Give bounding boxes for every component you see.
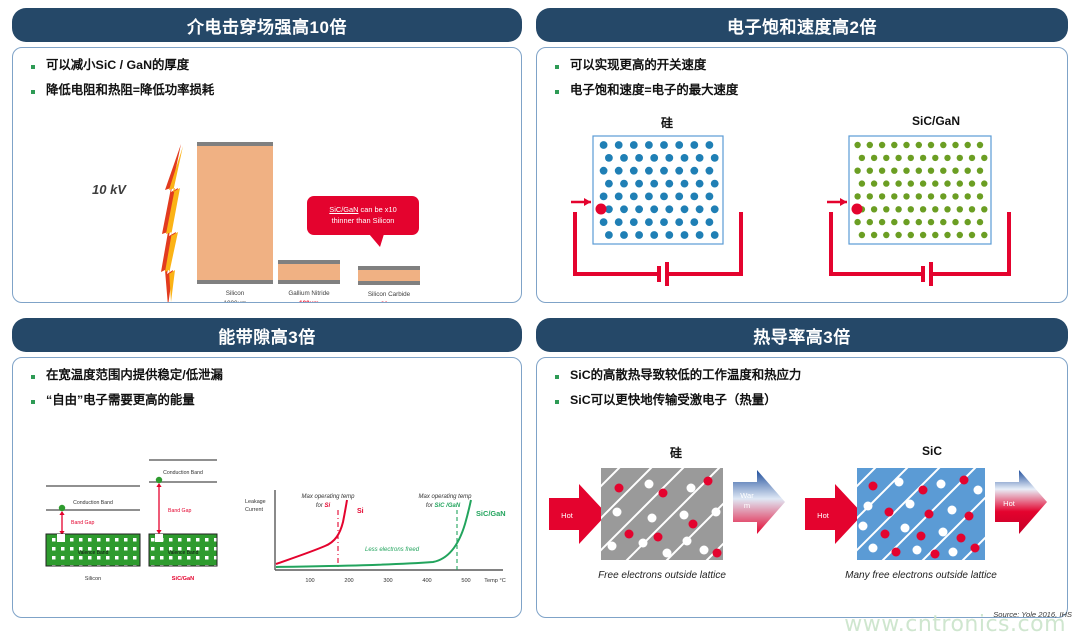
- panel-band-gap: 能带隙高3倍 在宽温度范围内提供稳定/低泄漏 “自由”电子需要更高的能量: [12, 318, 522, 618]
- list-item: “自由”电子需要更高的能量: [27, 393, 521, 407]
- lattice-dot: [854, 219, 860, 225]
- chart-xtick: 200: [344, 578, 353, 584]
- lattice-dot: [660, 167, 668, 175]
- thermal-diagram-sic: Hot: [801, 462, 1068, 592]
- lattice-dot: [965, 168, 971, 174]
- lattice-dot: [944, 232, 950, 238]
- panel-body-thermal-conductivity: SiC的高散热导致较低的工作温度和热应力 SiC可以更快地传输受激电子（热量） …: [536, 357, 1068, 618]
- lattice-dot: [600, 167, 608, 175]
- slab-dimension: 90µm: [358, 300, 420, 303]
- lattice-dot: [620, 231, 628, 239]
- lattice-dot: [696, 180, 704, 188]
- lattice-dot: [891, 142, 897, 148]
- lattice-dot: [969, 206, 975, 212]
- chart-xtick: 400: [422, 578, 431, 584]
- slab-body: [278, 264, 340, 280]
- bullet-square-icon: [31, 90, 35, 94]
- lattice-dot: [952, 168, 958, 174]
- panel-title-band-gap: 能带隙高3倍: [12, 318, 522, 352]
- bullet-square-icon: [31, 375, 35, 379]
- lattice-dot: [867, 193, 873, 199]
- bandgap-and-leakage-figure: Conduction Band Band Gap Valence Band Si…: [13, 454, 521, 609]
- lattice-dot: [932, 180, 938, 186]
- bullet-square-icon: [555, 90, 559, 94]
- lattice-dot: [895, 206, 901, 212]
- callout-underline: SiC/GaN: [329, 205, 358, 214]
- silicon-lattice-box: [593, 136, 723, 244]
- lattice-dot: [871, 180, 877, 186]
- lattice-dot: [957, 180, 963, 186]
- lattice-dot: [706, 193, 714, 201]
- lattice-dot: [977, 219, 983, 225]
- lattice-dot: [903, 219, 909, 225]
- slab-silicon: Silicon 1000µm: [197, 142, 273, 303]
- lattice-dot: [620, 180, 628, 188]
- lattice-dot: [928, 193, 934, 199]
- lightning-bolt-icon: [159, 144, 195, 303]
- lattice-dot: [645, 218, 653, 226]
- sicgan-device-circuit: [807, 134, 1067, 294]
- warm-arrow-label-2: m: [744, 501, 750, 510]
- slab-body: [358, 270, 420, 281]
- series-sicgan-curve: [276, 500, 471, 567]
- slab-bottom-plate: [197, 280, 273, 284]
- lattice-dot: [916, 193, 922, 199]
- lattice-dot: [630, 141, 638, 149]
- carrier-electron-icon: [852, 204, 863, 215]
- annotation-sicgan-line1: Max operating temp: [418, 494, 472, 500]
- lattice-dot: [650, 180, 658, 188]
- panel-title-thermal-conductivity: 热导率高3倍: [536, 318, 1068, 352]
- lattice-dot: [620, 154, 628, 162]
- lattice-dot: [920, 155, 926, 161]
- lattice-dot: [879, 219, 885, 225]
- lattice-dot: [871, 232, 877, 238]
- lattice-dot: [867, 219, 873, 225]
- hot-arrow-in-icon: [549, 484, 607, 544]
- lattice-dot: [969, 180, 975, 186]
- lattice-dot: [920, 232, 926, 238]
- lattice-dot: [977, 142, 983, 148]
- list-item: 在宽温度范围内提供稳定/低泄漏: [27, 368, 521, 382]
- panel-title-electron-saturation: 电子饱和速度高2倍: [536, 8, 1068, 42]
- lattice-dot: [883, 155, 889, 161]
- bullet-text: 在宽温度范围内提供稳定/低泄漏: [46, 368, 223, 382]
- lattice-dot: [981, 206, 987, 212]
- label-conduction-band: Conduction Band: [73, 500, 113, 506]
- lattice-dot: [952, 219, 958, 225]
- lattice-dot: [854, 168, 860, 174]
- lattice-dot: [665, 231, 673, 239]
- lattice-label-silicon: 硅: [567, 114, 767, 131]
- slab-gallium-nitride: Gallium Nitride 100µm: [278, 260, 340, 303]
- lattice-dot: [854, 193, 860, 199]
- lattice-dot: [650, 154, 658, 162]
- annotation-si-line2: for Si: [316, 503, 331, 509]
- thermal-label-sic: SiC: [807, 444, 1057, 458]
- bullet-text: SiC可以更快地传输受激电子（热量）: [570, 393, 777, 407]
- caption-silicon-lattice: Free electrons outside lattice: [598, 570, 726, 581]
- lattice-dot: [859, 180, 865, 186]
- lattice-dot: [883, 206, 889, 212]
- lattice-dot: [879, 193, 885, 199]
- callout-line2: thinner than Silicon: [332, 216, 395, 225]
- slab-material-name: Silicon: [197, 289, 273, 299]
- lattice-dot: [600, 193, 608, 201]
- lattice-dot: [908, 232, 914, 238]
- lattice-dot: [891, 168, 897, 174]
- lattice-dot: [630, 193, 638, 201]
- lattice-dot: [605, 154, 613, 162]
- lattice-dot: [645, 167, 653, 175]
- thermal-label-silicon: 硅: [551, 444, 801, 461]
- panel-electron-saturation: 电子饱和速度高2倍 可以实现更高的开关速度 电子饱和速度=电子的最大速度 硅 S…: [536, 8, 1068, 303]
- label-valence-band: Valence Band: [168, 550, 199, 556]
- lattice-dot: [650, 231, 658, 239]
- lattice-dot: [675, 218, 683, 226]
- lattice-dot: [696, 231, 704, 239]
- lattice-dot: [665, 154, 673, 162]
- lattice-dot: [690, 167, 698, 175]
- lattice-dot: [957, 155, 963, 161]
- chart-xtick: 300: [383, 578, 392, 584]
- lattice-dot: [957, 206, 963, 212]
- bullet-list-thermal: SiC的高散热导致较低的工作温度和热应力 SiC可以更快地传输受激电子（热量）: [537, 358, 1067, 408]
- lattice-dot: [706, 218, 714, 226]
- lattice-dot: [650, 205, 658, 213]
- lattice-dot: [920, 206, 926, 212]
- lattice-dot: [681, 180, 689, 188]
- hot-arrow-in-icon: [805, 484, 863, 544]
- lattice-dot: [711, 205, 719, 213]
- chart-xtick: 500: [461, 578, 470, 584]
- warm-arrow-out-icon: [733, 470, 785, 534]
- lattice-dot: [615, 218, 623, 226]
- voltage-label: 10 kV: [92, 182, 126, 197]
- lattice-dot: [944, 180, 950, 186]
- lattice-dot: [965, 219, 971, 225]
- lattice-dot: [605, 180, 613, 188]
- slab-silicon-carbide: Silicon Carbide 90µm: [358, 266, 420, 303]
- lattice-dot: [871, 155, 877, 161]
- lattice-dot: [681, 231, 689, 239]
- thickness-figure: 10 kV Silicon 1000µm: [13, 136, 521, 303]
- lattice-dot: [965, 142, 971, 148]
- lattice-dot: [681, 205, 689, 213]
- panel-body-breakdown-field: 可以减小SiC / GaN的厚度 降低电阻和热阻=降低功率损耗 10 kV: [12, 47, 522, 303]
- lattice-dot: [867, 168, 873, 174]
- panel-breakdown-field: 介电击穿场强高10倍 可以减小SiC / GaN的厚度 降低电阻和热阻=降低功率…: [12, 8, 522, 303]
- caption-sic-lattice: Many free electrons outside lattice: [845, 570, 997, 581]
- lattice-dot: [940, 168, 946, 174]
- lattice-dot: [605, 231, 613, 239]
- lattice-dot: [969, 232, 975, 238]
- lattice-dot: [883, 180, 889, 186]
- slide-root: 介电击穿场强高10倍 可以减小SiC / GaN的厚度 降低电阻和热阻=降低功率…: [0, 0, 1080, 637]
- list-item: 电子饱和速度=电子的最大速度: [551, 83, 1067, 97]
- lattice-dot: [908, 206, 914, 212]
- lattice-dot: [916, 168, 922, 174]
- lattice-dot: [620, 205, 628, 213]
- bullet-list-bandgap: 在宽温度范围内提供稳定/低泄漏 “自由”电子需要更高的能量: [13, 358, 521, 408]
- lattice-dot: [660, 141, 668, 149]
- lattice-dot: [645, 141, 653, 149]
- lattice-dot: [895, 155, 901, 161]
- panel-body-band-gap: 在宽温度范围内提供稳定/低泄漏 “自由”电子需要更高的能量 C: [12, 357, 522, 618]
- lattice-dot: [879, 142, 885, 148]
- lattice-dot: [928, 142, 934, 148]
- warm-arrow-label-1: War: [740, 491, 754, 500]
- thermal-diagram-silicon: Hot: [545, 462, 803, 592]
- annotation-si-line1: Max operating temp: [301, 494, 355, 500]
- bullet-text: 电子饱和速度=电子的最大速度: [570, 83, 738, 97]
- bullet-text: “自由”电子需要更高的能量: [46, 393, 195, 407]
- panel-body-electron-saturation: 可以实现更高的开关速度 电子饱和速度=电子的最大速度 硅 SiC/GaN: [536, 47, 1068, 303]
- lattice-dot: [600, 141, 608, 149]
- annotation-sicgan-line2: for SiC /GaN: [426, 503, 461, 509]
- lattice-dot: [681, 154, 689, 162]
- slab-dimension: 100µm: [278, 299, 340, 303]
- band-diagram-sicgan: Conduction Band Band Gap Valence Band Si…: [149, 460, 217, 582]
- chart-xtick: 100: [305, 578, 314, 584]
- slab-caption: Silicon Carbide 90µm: [358, 290, 420, 303]
- lattice-dot: [879, 168, 885, 174]
- hot-arrow-out-label: Hot: [1003, 499, 1016, 508]
- label-band-gap: Band Gap: [168, 508, 191, 514]
- lattice-dot: [711, 231, 719, 239]
- lattice-dot: [981, 155, 987, 161]
- hot-arrow-in-label: Hot: [561, 511, 574, 520]
- lattice-dot: [944, 206, 950, 212]
- lattice-dot: [928, 219, 934, 225]
- bullet-square-icon: [31, 65, 35, 69]
- lattice-dot: [859, 232, 865, 238]
- chart-ylabel-line2: Current: [245, 507, 263, 513]
- lattice-dot: [635, 231, 643, 239]
- label-band-gap: Band Gap: [71, 520, 94, 526]
- carrier-electron-icon: [596, 204, 607, 215]
- lattice-dot: [690, 193, 698, 201]
- lattice-dot: [952, 142, 958, 148]
- lattice-dot: [940, 142, 946, 148]
- lattice-dot: [920, 180, 926, 186]
- lattice-dot: [696, 205, 704, 213]
- slab-dimension: 1000µm: [197, 299, 273, 303]
- lattice-dot: [940, 219, 946, 225]
- lattice-dot: [635, 154, 643, 162]
- annotation-less-electrons: Less electrons freed: [365, 547, 420, 553]
- lattice-dot: [675, 167, 683, 175]
- lattice-dot: [981, 180, 987, 186]
- silicon-device-circuit: [551, 134, 801, 294]
- lattice-dot: [944, 155, 950, 161]
- lattice-dot: [706, 141, 714, 149]
- label-material-silicon: Silicon: [85, 576, 101, 582]
- lattice-dot: [932, 155, 938, 161]
- lattice-dot: [932, 232, 938, 238]
- lattice-dot: [665, 205, 673, 213]
- lattice-dot: [706, 167, 714, 175]
- bullet-list-breakdown: 可以减小SiC / GaN的厚度 降低电阻和热阻=降低功率损耗: [13, 48, 521, 98]
- chart-ylabel-line1: Leakage: [245, 499, 266, 505]
- lattice-dot: [908, 155, 914, 161]
- lattice-dot: [660, 218, 668, 226]
- bullet-list-saturation: 可以实现更高的开关速度 电子饱和速度=电子的最大速度: [537, 48, 1067, 98]
- lattice-dot: [645, 193, 653, 201]
- list-item: SiC的高散热导致较低的工作温度和热应力: [551, 368, 1067, 382]
- lattice-dot: [630, 167, 638, 175]
- series-label-si: Si: [357, 508, 364, 515]
- slab-bottom-plate: [358, 281, 420, 285]
- slab-material-name: Silicon Carbide: [358, 290, 420, 300]
- lattice-dot: [883, 232, 889, 238]
- lattice-dot: [903, 193, 909, 199]
- slab-material-name: Gallium Nitride: [278, 289, 340, 299]
- leakage-current-chart: Leakage Current 100 200 300 400 500 Temp…: [245, 490, 506, 584]
- lattice-dot: [903, 142, 909, 148]
- lattice-dot: [928, 168, 934, 174]
- lattice-dot: [952, 193, 958, 199]
- bullet-text: 降低电阻和热阻=降低功率损耗: [46, 83, 214, 97]
- lattice-dot: [711, 154, 719, 162]
- lattice-dot: [916, 142, 922, 148]
- label-conduction-band: Conduction Band: [163, 470, 203, 476]
- panel-title-breakdown-field: 介电击穿场强高10倍: [12, 8, 522, 42]
- lattice-label-sicgan: SiC/GaN: [821, 114, 1051, 128]
- callout-line1: can be x10: [358, 205, 396, 214]
- bullet-square-icon: [555, 375, 559, 379]
- lattice-dot: [895, 180, 901, 186]
- lattice-dot: [675, 193, 683, 201]
- lattice-dot: [977, 168, 983, 174]
- list-item: 可以减小SiC / GaN的厚度: [27, 58, 521, 72]
- lattice-dot: [916, 219, 922, 225]
- lattice-dot: [615, 193, 623, 201]
- lattice-dot: [675, 141, 683, 149]
- lattice-dot: [696, 154, 704, 162]
- lattice-dot: [895, 232, 901, 238]
- series-label-sicgan: SiC/GaN: [476, 509, 506, 518]
- bullet-text: 可以减小SiC / GaN的厚度: [46, 58, 189, 72]
- lattice-dot: [600, 218, 608, 226]
- chart-xlabel: Temp °C: [484, 578, 506, 584]
- hot-arrow-in-label: Hot: [817, 511, 830, 520]
- lattice-dot: [690, 141, 698, 149]
- lattice-dot: [969, 155, 975, 161]
- slab-body: [197, 146, 273, 280]
- lattice-dot: [932, 206, 938, 212]
- bullet-square-icon: [31, 400, 35, 404]
- lattice-dot: [859, 155, 865, 161]
- bullet-square-icon: [555, 65, 559, 69]
- lattice-dot: [903, 168, 909, 174]
- lattice-dot: [615, 141, 623, 149]
- bullet-square-icon: [555, 400, 559, 404]
- lattice-dot: [981, 232, 987, 238]
- lattice-dot: [867, 142, 873, 148]
- lattice-dot: [690, 218, 698, 226]
- lattice-dot: [635, 180, 643, 188]
- lattice-dot: [891, 193, 897, 199]
- label-valence-band: Valence Band: [78, 550, 109, 556]
- lattice-dot: [854, 142, 860, 148]
- lattice-dot: [957, 232, 963, 238]
- panel-thermal-conductivity: 热导率高3倍 SiC的高散热导致较低的工作温度和热应力 SiC可以更快地传输受激…: [536, 318, 1068, 618]
- lattice-dot: [871, 206, 877, 212]
- callout-bubble: SiC/GaN can be x10 thinner than Silicon: [307, 196, 419, 235]
- list-item: SiC可以更快地传输受激电子（热量）: [551, 393, 1067, 407]
- lattice-dot: [965, 193, 971, 199]
- label-material-sicgan: SiC/GaN: [172, 576, 194, 582]
- bullet-text: SiC的高散热导致较低的工作温度和热应力: [570, 368, 801, 382]
- lattice-dot: [635, 205, 643, 213]
- list-item: 降低电阻和热阻=降低功率损耗: [27, 83, 521, 97]
- band-diagram-silicon: Conduction Band Band Gap Valence Band Si…: [46, 486, 140, 582]
- lattice-dot: [908, 180, 914, 186]
- watermark: www.cntronics.com: [844, 612, 1066, 637]
- lattice-dot: [891, 219, 897, 225]
- lattice-dot: [615, 167, 623, 175]
- lattice-dot: [711, 180, 719, 188]
- slab-bottom-plate: [278, 280, 340, 284]
- list-item: 可以实现更高的开关速度: [551, 58, 1067, 72]
- sicgan-lattice-box: [849, 136, 991, 244]
- lattice-dot: [630, 218, 638, 226]
- lattice-dot: [660, 193, 668, 201]
- lattice-dot: [665, 180, 673, 188]
- lattice-dot: [977, 193, 983, 199]
- slab-caption: Silicon 1000µm: [197, 289, 273, 303]
- series-si-curve: [276, 500, 347, 564]
- lattice-dot: [940, 193, 946, 199]
- slab-caption: Gallium Nitride 100µm: [278, 289, 340, 303]
- bullet-text: 可以实现更高的开关速度: [570, 58, 706, 72]
